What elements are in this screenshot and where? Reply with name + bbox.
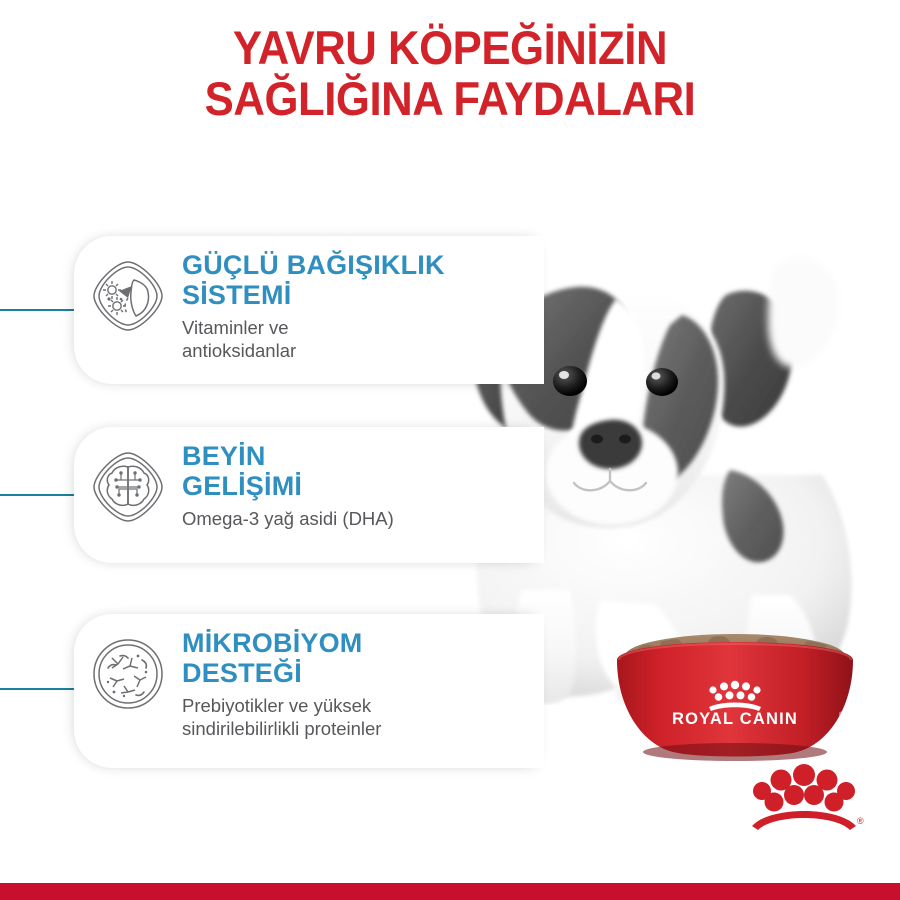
benefit-card-microbiome[interactable]: MİKROBİYOM DESTEĞİ Prebiyotikler ve yüks… bbox=[74, 614, 544, 768]
benefit-subtitle: Omega-3 yağ asidi (DHA) bbox=[182, 507, 534, 530]
bowl-logo-text: ROYAL CANIN bbox=[672, 710, 798, 728]
page-title: YAVRU KÖPEĞİNİZİN SAĞLIĞINA FAYDALARI bbox=[0, 22, 900, 124]
microbiome-icon bbox=[88, 634, 168, 714]
bottom-red-bar bbox=[0, 883, 900, 900]
benefit-icon-wrapper bbox=[74, 250, 182, 336]
connector-line-3 bbox=[0, 688, 80, 690]
title-line-1: YAVRU KÖPEĞİNİZİN bbox=[32, 22, 869, 73]
bowl-registered-mark: ® bbox=[839, 711, 845, 719]
benefit-card-immunity[interactable]: GÜÇLÜ BAĞIŞIKLIK SİSTEMİ Vitaminler ve a… bbox=[74, 236, 544, 384]
benefit-subtitle: Vitaminler ve antioksidanlar bbox=[182, 316, 534, 362]
royal-canin-crown-icon-corner: ® bbox=[744, 754, 864, 832]
benefit-card-brain[interactable]: BEYİN GELİŞİMİ Omega-3 yağ asidi (DHA) bbox=[74, 427, 544, 563]
connector-line-1 bbox=[0, 309, 80, 311]
connector-line-2 bbox=[0, 494, 80, 496]
benefit-text-wrapper: BEYİN GELİŞİMİ Omega-3 yağ asidi (DHA) bbox=[182, 441, 544, 530]
brain-icon bbox=[88, 447, 168, 527]
title-line-2: SAĞLIĞINA FAYDALARI bbox=[32, 73, 869, 124]
benefit-title: GÜÇLÜ BAĞIŞIKLIK SİSTEMİ bbox=[182, 250, 534, 310]
royal-canin-food-bowl: ROYAL CANIN ® bbox=[575, 632, 895, 767]
benefit-subtitle: Prebiyotikler ve yüksek sindirilebilirli… bbox=[182, 694, 534, 740]
corner-registered-mark: ® bbox=[857, 816, 864, 826]
benefit-icon-wrapper bbox=[74, 628, 182, 714]
royal-canin-puppy-benefits-poster: YAVRU KÖPEĞİNİZİN SAĞLIĞINA FAYDALARI bbox=[0, 0, 900, 900]
immunity-shield-icon bbox=[88, 256, 168, 336]
benefit-text-wrapper: MİKROBİYOM DESTEĞİ Prebiyotikler ve yüks… bbox=[182, 628, 544, 740]
benefit-title: MİKROBİYOM DESTEĞİ bbox=[182, 628, 534, 688]
benefit-text-wrapper: GÜÇLÜ BAĞIŞIKLIK SİSTEMİ Vitaminler ve a… bbox=[182, 250, 544, 362]
benefit-title: BEYİN GELİŞİMİ bbox=[182, 441, 534, 501]
benefit-icon-wrapper bbox=[74, 441, 182, 527]
